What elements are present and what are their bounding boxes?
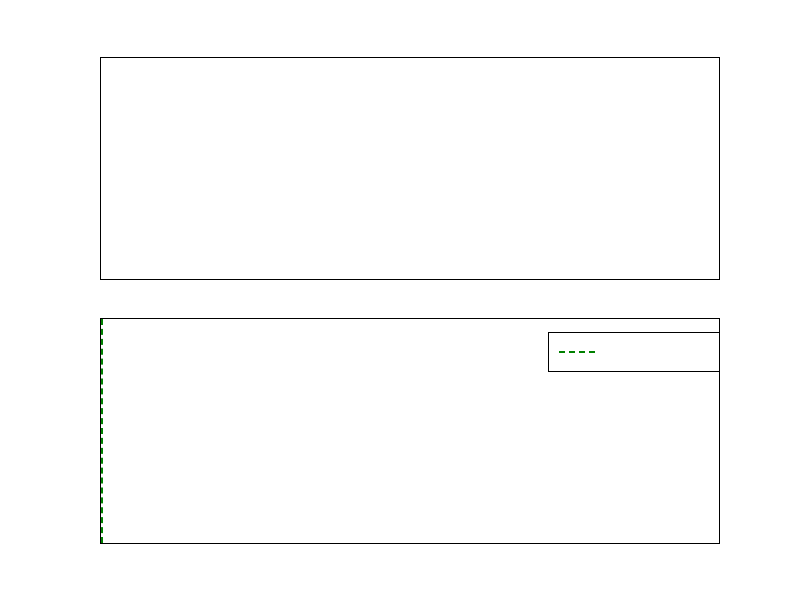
differential-histogram-axes	[100, 57, 720, 280]
histogram-bars	[101, 58, 719, 279]
legend[interactable]	[548, 332, 720, 372]
figure	[0, 0, 800, 600]
cumulative-histogram-axes	[100, 318, 720, 544]
mag-limit-legend-swatch	[559, 351, 595, 353]
mag-limit-vline	[101, 319, 103, 543]
